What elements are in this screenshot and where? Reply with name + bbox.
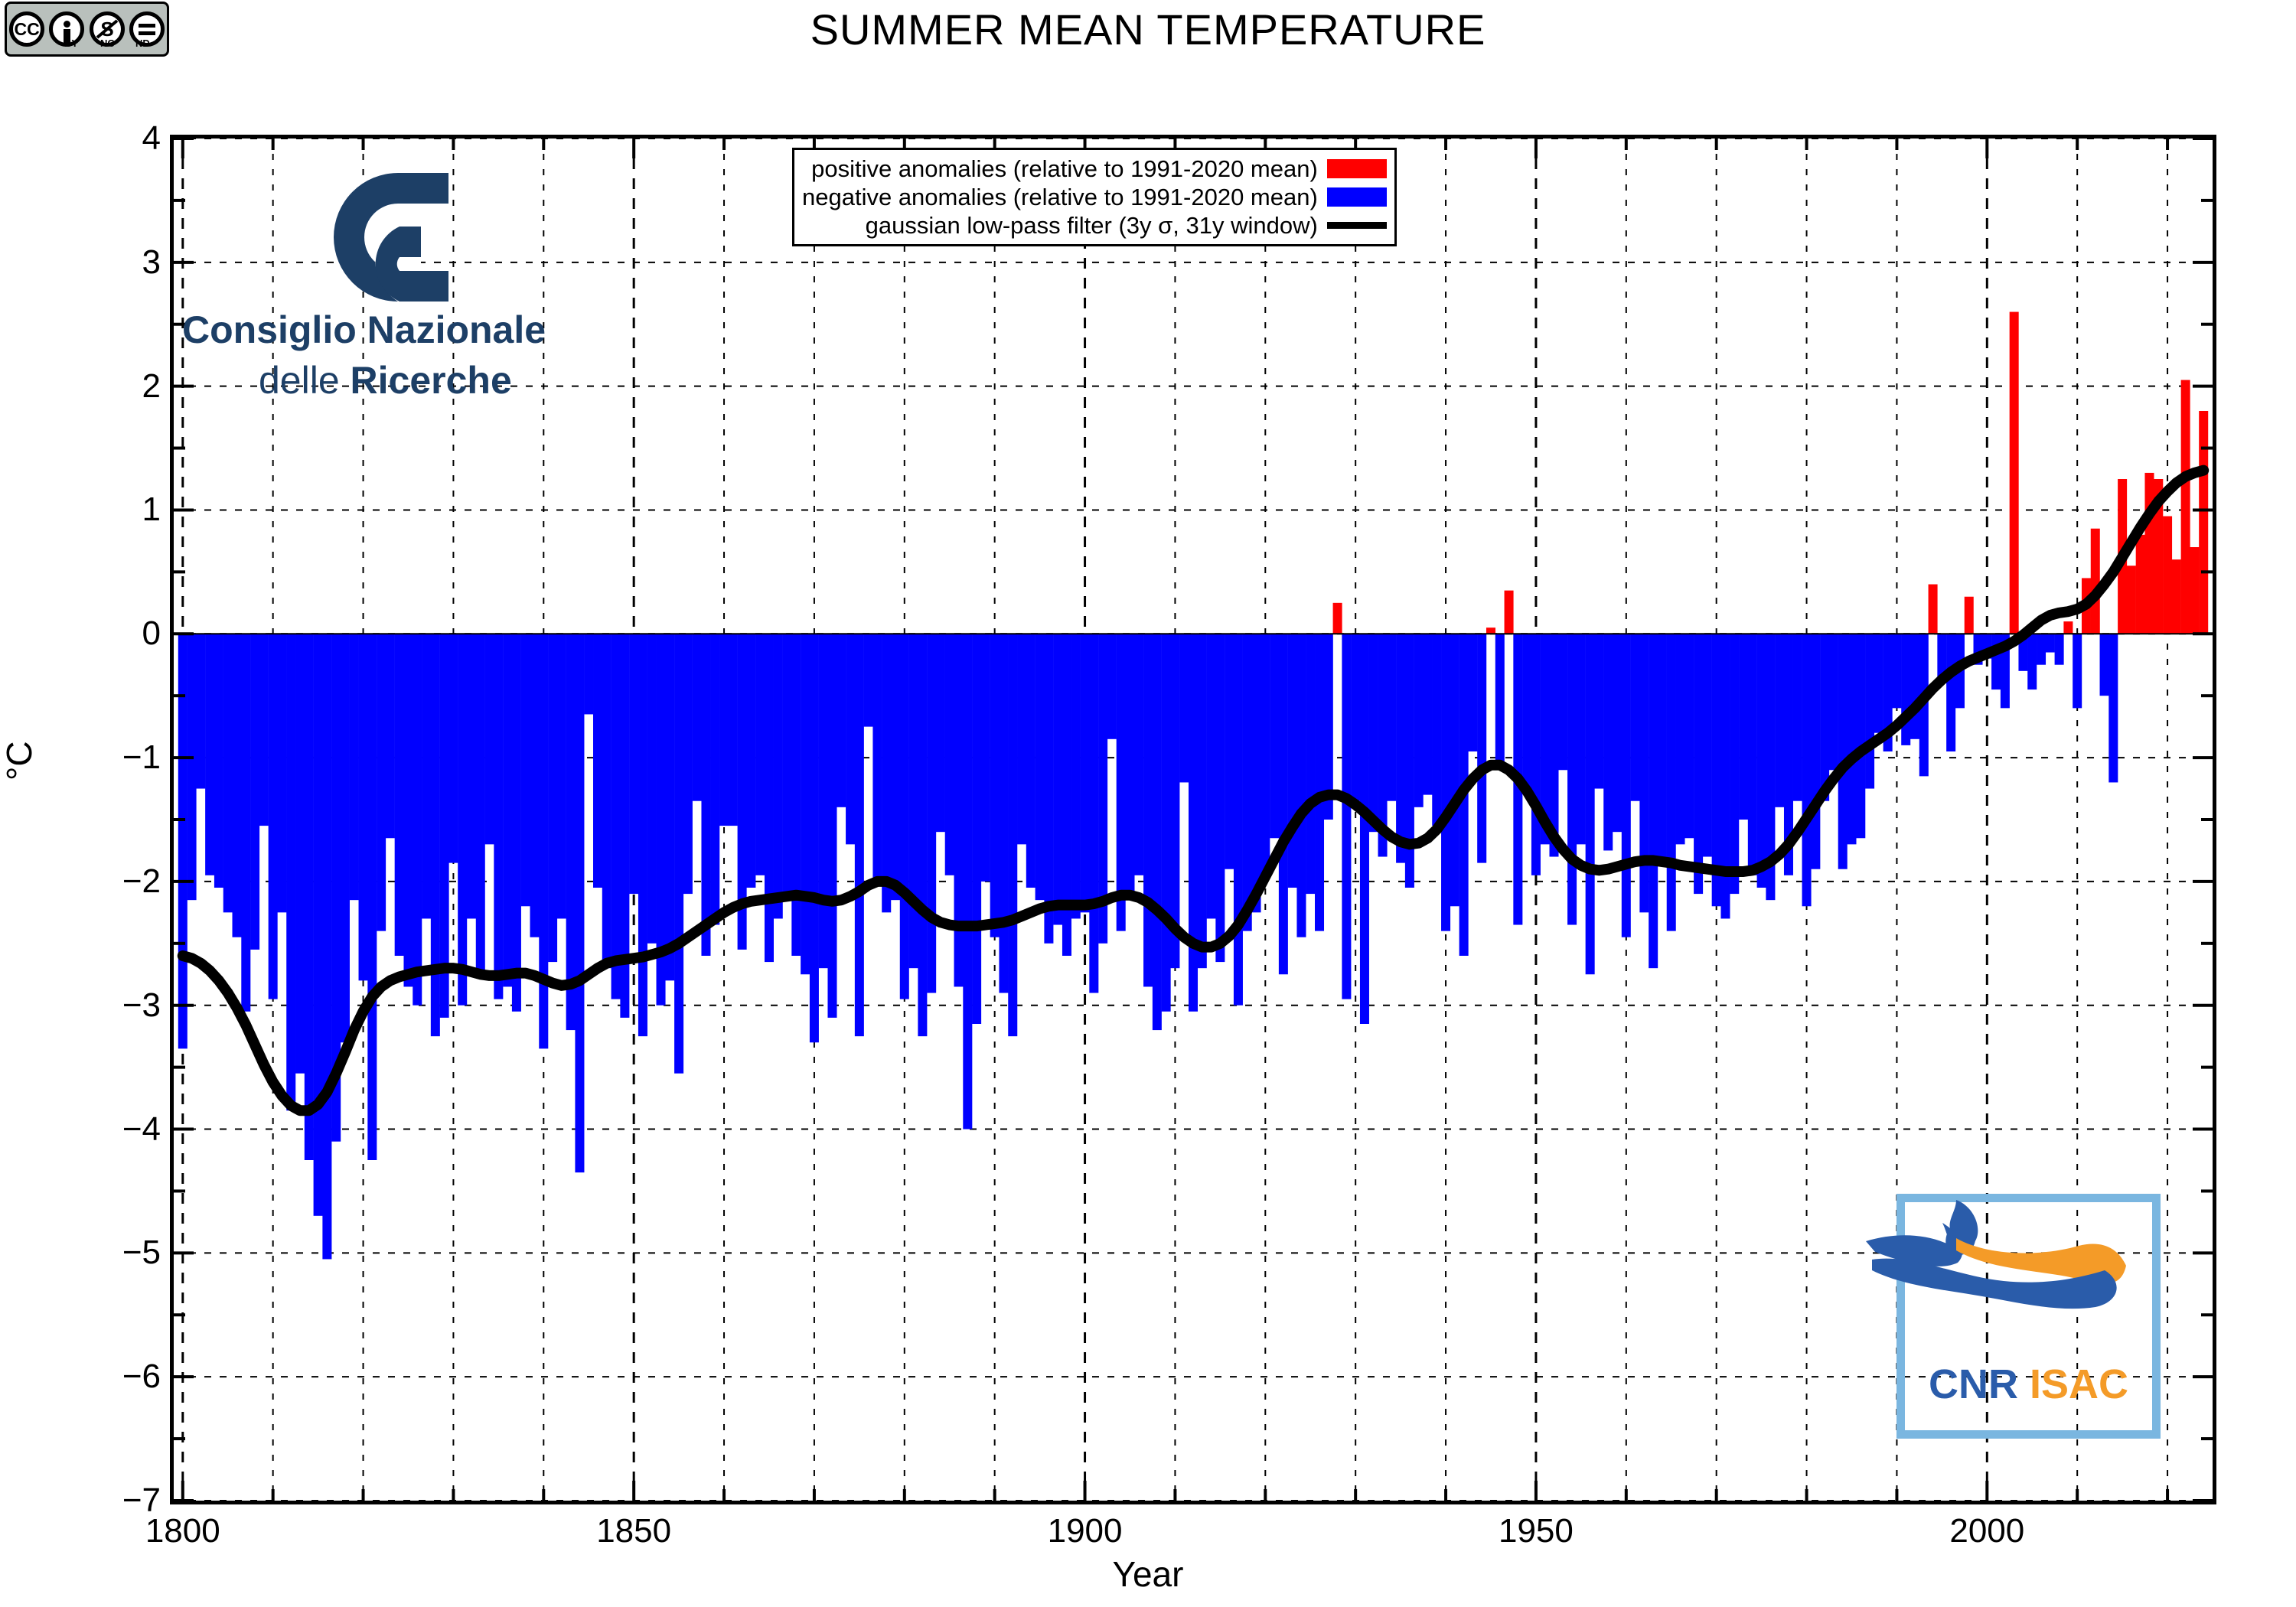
y-axis-tick: 4 — [142, 119, 161, 158]
anomaly-bar — [403, 634, 413, 986]
anomaly-bar — [250, 634, 259, 950]
y-axis-tick: −2 — [122, 862, 161, 901]
anomaly-bar — [1387, 634, 1396, 800]
isac-wave-icon — [1866, 1186, 2130, 1351]
legend-item-label: positive anomalies (relative to 1991-202… — [811, 155, 1318, 183]
anomaly-bar — [2037, 634, 2046, 664]
anomaly-bar — [521, 634, 530, 906]
anomaly-bar — [837, 634, 846, 807]
anomaly-bar — [1929, 585, 1938, 634]
legend-item: gaussian low-pass filter (3y σ, 31y wind… — [802, 211, 1387, 240]
anomaly-bar — [1676, 634, 1685, 844]
anomaly-bar — [233, 634, 242, 937]
anomaly-bar — [999, 634, 1008, 993]
anomaly-bar — [1414, 634, 1424, 807]
page-title: SUMMER MEAN TEMPERATURE — [0, 5, 2296, 54]
x-axis-tick-labels: 18001850190019502000 — [170, 1509, 2216, 1555]
anomaly-bar — [1865, 634, 1874, 788]
anomaly-bar — [701, 634, 710, 956]
anomaly-bar — [259, 634, 269, 826]
anomaly-bar — [1089, 634, 1098, 993]
anomaly-bar — [819, 634, 828, 968]
anomaly-bar — [1432, 634, 1441, 826]
anomaly-bar — [827, 634, 837, 1018]
y-axis-tick: −5 — [122, 1234, 161, 1272]
y-axis-tick: 2 — [142, 367, 161, 406]
anomaly-bar — [214, 634, 223, 888]
anomaly-bar — [286, 634, 295, 1110]
anomaly-bar — [431, 634, 440, 1036]
anomaly-bar — [1179, 634, 1189, 782]
anomaly-bar — [1053, 634, 1062, 924]
anomaly-bar — [223, 634, 233, 912]
anomaly-bar — [1505, 591, 1514, 634]
anomaly-bar — [1631, 634, 1640, 800]
anomaly-bar — [241, 634, 250, 1012]
anomaly-bar — [1622, 634, 1631, 937]
anomaly-bar — [1910, 634, 1919, 739]
anomaly-bar — [1215, 634, 1225, 962]
x-axis-tick: 1850 — [596, 1512, 671, 1550]
isac-isac-text: ISAC — [2030, 1361, 2128, 1407]
anomaly-bar — [322, 634, 331, 1259]
anomaly-bar — [1775, 634, 1784, 807]
anomaly-bar — [1649, 634, 1658, 968]
x-axis-label: Year — [0, 1553, 2296, 1595]
anomaly-bar — [810, 634, 819, 1042]
anomaly-bar — [1125, 634, 1134, 900]
anomaly-bar — [1495, 634, 1505, 770]
anomaly-bar — [1189, 634, 1198, 1012]
anomaly-bar — [1486, 627, 1495, 634]
anomaly-bar — [900, 634, 909, 999]
anomaly-bar — [1369, 634, 1378, 832]
anomaly-bar — [350, 634, 359, 900]
anomaly-bar — [1270, 634, 1279, 838]
anomaly-bar — [963, 634, 972, 1129]
cnr-ricerche: Ricerche — [351, 359, 512, 402]
anomaly-bar — [367, 634, 377, 1160]
x-axis-tick: 1950 — [1499, 1512, 1574, 1550]
anomaly-bar — [755, 634, 765, 875]
anomaly-bar — [2091, 529, 2100, 634]
cnr-spiral-icon — [306, 145, 459, 306]
anomaly-bar — [1198, 634, 1207, 968]
anomaly-bar — [783, 634, 792, 900]
cnr-isac-logo: CNR ISAC — [1896, 1194, 2161, 1439]
anomaly-bar — [1946, 634, 1955, 751]
anomaly-bar — [1252, 634, 1261, 912]
anomaly-bar — [1107, 634, 1117, 739]
anomaly-bar — [972, 634, 981, 1024]
anomaly-bar — [584, 634, 593, 714]
anomaly-bar — [719, 634, 729, 826]
anomaly-bar — [1279, 634, 1288, 974]
anomaly-bar — [774, 634, 783, 918]
anomaly-bar — [2046, 634, 2055, 652]
anomaly-bar — [674, 634, 683, 1073]
anomaly-bar — [981, 634, 990, 882]
x-axis-tick: 2000 — [1949, 1512, 2024, 1550]
anomaly-bar — [1441, 634, 1450, 931]
anomaly-bar — [1134, 634, 1143, 875]
anomaly-bar — [1081, 634, 1090, 912]
anomaly-bar — [1207, 634, 1216, 918]
anomaly-bar — [1117, 634, 1126, 931]
anomaly-bar — [1577, 634, 1586, 844]
anomaly-bar — [1793, 634, 1802, 800]
anomaly-bar — [1143, 634, 1153, 986]
anomaly-bar — [413, 634, 422, 1005]
anomaly-bar — [295, 634, 305, 1073]
anomaly-bar — [593, 634, 602, 888]
anomaly-bar — [710, 634, 719, 924]
anomaly-bar — [2108, 634, 2118, 782]
anomaly-bar — [1315, 634, 1324, 931]
cnr-title-line1: Consiglio Nazionale — [182, 308, 546, 352]
anomaly-bar — [557, 634, 566, 918]
anomaly-bar — [386, 634, 395, 838]
anomaly-bar — [1594, 634, 1603, 788]
isac-logo-text: CNR ISAC — [1896, 1361, 2161, 1408]
anomaly-bar — [954, 634, 964, 986]
anomaly-bar — [927, 634, 936, 993]
anomaly-bar — [1162, 634, 1171, 1012]
anomaly-bar — [422, 634, 431, 918]
anomaly-bar — [2010, 312, 2019, 634]
anomaly-bar — [791, 634, 801, 956]
y-axis-tick: 3 — [142, 243, 161, 282]
anomaly-bar — [1847, 634, 1856, 844]
anomaly-bar — [1008, 634, 1017, 1036]
anomaly-bar — [1838, 634, 1848, 869]
anomaly-bar — [314, 634, 323, 1216]
y-axis-tick: −3 — [122, 986, 161, 1025]
y-axis-tick: −4 — [122, 1110, 161, 1149]
anomaly-bar — [485, 634, 494, 844]
anomaly-bar — [1639, 634, 1649, 912]
x-axis-tick: 1800 — [145, 1512, 220, 1550]
anomaly-bar — [1342, 634, 1351, 999]
anomaly-bar — [448, 634, 458, 862]
anomaly-bar — [882, 634, 891, 912]
anomaly-bar — [1026, 634, 1035, 888]
anomaly-bar — [512, 634, 521, 1012]
anomaly-bar — [188, 634, 197, 900]
anomaly-bar — [1296, 634, 1306, 937]
anomaly-bar — [945, 634, 954, 875]
anomaly-bar — [1333, 603, 1342, 634]
legend-line-swatch — [1327, 222, 1387, 229]
anomaly-bar — [918, 634, 927, 1036]
anomaly-bar — [1396, 634, 1405, 862]
anomaly-bar — [1225, 634, 1234, 869]
anomaly-bar — [1703, 634, 1712, 856]
anomaly-bar — [458, 634, 467, 1005]
anomaly-bar — [801, 634, 810, 974]
y-axis-tick: 1 — [142, 491, 161, 529]
anomaly-bar — [2073, 634, 2082, 708]
anomaly-bar — [494, 634, 503, 999]
anomaly-bar — [936, 634, 945, 832]
isac-cnr-text: CNR — [1929, 1361, 2018, 1407]
anomaly-bar — [1035, 634, 1045, 900]
anomaly-bar — [1820, 634, 1829, 800]
anomaly-bar — [1991, 634, 2001, 689]
anomaly-bar — [1522, 634, 1531, 788]
anomaly-bar — [377, 634, 386, 931]
anomaly-bar — [1829, 634, 1838, 770]
anomaly-bar — [1450, 634, 1459, 906]
anomaly-bar — [2199, 411, 2208, 634]
anomaly-bar — [548, 634, 557, 962]
anomaly-bar — [846, 634, 855, 844]
y-axis-tick: −6 — [122, 1358, 161, 1396]
anomaly-bar — [1017, 634, 1026, 844]
anomaly-bar — [872, 634, 882, 882]
x-axis-tick: 1900 — [1048, 1512, 1123, 1550]
cnr-delle: delle — [259, 359, 351, 402]
anomaly-bar — [1243, 634, 1252, 931]
anomaly-bar — [602, 634, 612, 968]
anomaly-bar — [1531, 634, 1541, 875]
legend-item-label: negative anomalies (relative to 1991-202… — [802, 184, 1318, 211]
anomaly-bar — [855, 634, 864, 1036]
anomaly-bar — [503, 634, 512, 986]
cnr-title-line2: delle Ricerche — [259, 358, 512, 403]
anomaly-bar — [1360, 634, 1369, 1024]
y-axis-tick: −1 — [122, 738, 161, 777]
anomaly-bar — [2055, 634, 2064, 664]
anomaly-bar — [1558, 634, 1567, 770]
anomaly-bar — [2163, 517, 2172, 634]
anomaly-bar — [2063, 621, 2073, 634]
y-axis-tick: 0 — [142, 614, 161, 653]
anomaly-bar — [1658, 634, 1667, 862]
anomaly-bar — [1802, 634, 1812, 906]
anomaly-bar — [1757, 634, 1766, 888]
anomaly-bar — [1748, 634, 1757, 875]
anomaly-bar — [729, 634, 738, 826]
anomaly-bar — [1603, 634, 1613, 850]
anomaly-bar — [612, 634, 621, 999]
anomaly-bar — [1477, 634, 1486, 862]
anomaly-bar — [2127, 566, 2136, 634]
anomaly-bar — [909, 634, 918, 968]
anomaly-bar — [2027, 634, 2037, 689]
anomaly-bar — [638, 634, 647, 1036]
legend-item: negative anomalies (relative to 1991-202… — [802, 183, 1387, 211]
anomaly-bar — [575, 634, 584, 1172]
anomaly-bar — [1306, 634, 1315, 894]
anomaly-bar — [1684, 634, 1694, 838]
anomaly-bar — [566, 634, 576, 1030]
chart-legend: positive anomalies (relative to 1991-202… — [792, 148, 1397, 246]
anomaly-bar — [891, 634, 900, 900]
anomaly-bar — [693, 634, 702, 800]
anomaly-bar — [1468, 634, 1477, 751]
anomaly-bar — [269, 634, 278, 999]
anomaly-bar — [1901, 634, 1910, 745]
anomaly-bar — [2144, 473, 2154, 634]
anomaly-bar — [1044, 634, 1053, 944]
cnr-logo: Consiglio Nazionale delle Ricerche — [176, 145, 605, 398]
anomaly-bar — [205, 634, 214, 875]
anomaly-bar — [530, 634, 539, 937]
legend-color-swatch — [1327, 187, 1387, 207]
anomaly-bar — [683, 634, 693, 894]
anomaly-bar — [990, 634, 1000, 937]
anomaly-bar — [647, 634, 657, 944]
anomaly-bar — [476, 634, 485, 974]
anomaly-bar — [395, 634, 404, 956]
anomaly-bar — [467, 634, 476, 918]
y-axis-tick-labels: 43210−1−2−3−4−5−6−7 — [0, 135, 162, 1504]
anomaly-bar — [1153, 634, 1162, 1030]
anomaly-bar — [1613, 634, 1622, 832]
anomaly-bar — [2172, 559, 2181, 634]
legend-color-swatch — [1327, 159, 1387, 178]
anomaly-bar — [359, 634, 368, 980]
anomaly-bar — [1874, 634, 1883, 732]
anomaly-bar — [1288, 634, 1297, 888]
legend-item: positive anomalies (relative to 1991-202… — [802, 155, 1387, 183]
anomaly-bar — [746, 634, 755, 888]
anomaly-bar — [2136, 535, 2145, 634]
anomaly-bar — [665, 634, 674, 980]
anomaly-bar — [277, 634, 286, 912]
anomaly-bar — [341, 634, 350, 1042]
anomaly-bar — [1739, 634, 1748, 820]
anomaly-bar — [2100, 634, 2109, 696]
anomaly-bar — [1351, 634, 1360, 800]
anomaly-bar — [1667, 634, 1676, 931]
anomaly-bar — [1261, 634, 1270, 875]
anomaly-bar — [2190, 547, 2199, 634]
anomaly-bar — [1423, 634, 1432, 794]
anomaly-bar — [1730, 634, 1739, 894]
anomaly-bar — [765, 634, 774, 962]
anomaly-bar — [1811, 634, 1820, 869]
anomaly-bar — [1892, 634, 1901, 708]
anomaly-bar — [1856, 634, 1865, 838]
anomaly-bar — [1234, 634, 1243, 1005]
anomaly-bar — [629, 634, 638, 894]
anomaly-bar — [864, 634, 873, 726]
anomaly-bar — [440, 634, 449, 1018]
anomaly-bar — [305, 634, 314, 1160]
anomaly-bar — [2181, 380, 2190, 634]
anomaly-bar — [1965, 597, 1974, 634]
anomaly-bar — [1586, 634, 1595, 974]
anomaly-bar — [1694, 634, 1703, 894]
anomaly-bar — [196, 634, 205, 788]
anomaly-bar — [1567, 634, 1577, 924]
anomaly-bar — [1071, 634, 1081, 918]
legend-item-label: gaussian low-pass filter (3y σ, 31y wind… — [866, 212, 1318, 240]
